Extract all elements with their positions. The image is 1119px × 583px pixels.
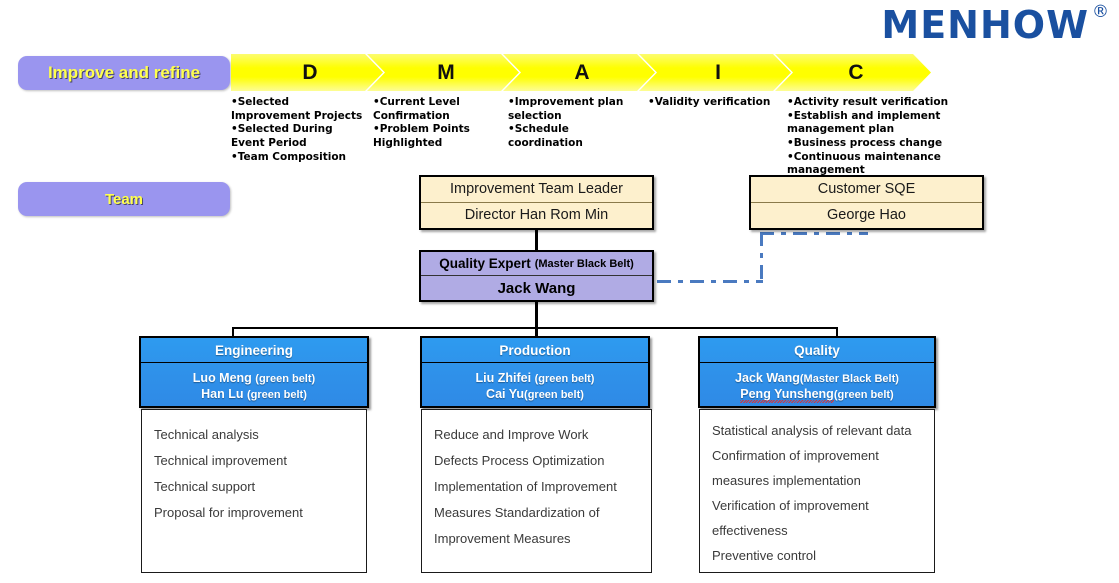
dmaic-bullet: Problem Points Highlighted: [373, 123, 495, 150]
dmaic-bullets-c: Activity result verification Establish a…: [787, 96, 1017, 178]
dmaic-bullet: Schedule coordination: [508, 123, 628, 150]
quality-expert-name: Jack Wang: [421, 276, 652, 300]
customer-sqe-name: George Hao: [751, 203, 982, 229]
department-title-production: Production: [422, 338, 648, 363]
dmaic-bullet: Validity verification: [648, 96, 778, 110]
dmaic-phase-a-letter: A: [574, 61, 589, 85]
member-row: Liu Zhifei (green belt): [476, 371, 595, 385]
dmaic-process-band: D M A I C: [231, 54, 931, 91]
dmaic-phase-c: C: [775, 54, 931, 91]
task-item: Measures Standardization of: [434, 500, 639, 526]
department-title-quality: Quality: [700, 338, 934, 363]
dmaic-bullet: Establish and implement management plan: [787, 110, 1017, 137]
member-belt: (Master Black Belt): [800, 373, 899, 385]
task-item: Improvement Measures: [434, 526, 639, 552]
member-row: Peng Yunsheng(green belt): [740, 387, 893, 401]
logo-wordmark: MENHOW: [881, 6, 1089, 44]
member-row: Jack Wang(Master Black Belt): [735, 371, 899, 385]
dmaic-bullets-i: Validity verification: [648, 96, 778, 110]
department-members-engineering: Luo Meng (green belt) Han Lu (green belt…: [141, 363, 367, 408]
connector-sqe-horizontal-bottom: [657, 280, 763, 283]
dmaic-phase-i: I: [639, 54, 791, 91]
task-item: Proposal for improvement: [154, 500, 354, 526]
team-leader-name: Director Han Rom Min: [421, 203, 652, 229]
dmaic-bullets-a: Improvement plan selection Schedule coor…: [508, 96, 628, 151]
task-item: Implementation of Improvement: [434, 474, 639, 500]
member-belt: (green belt): [255, 373, 315, 385]
dmaic-phase-d-letter: D: [302, 61, 317, 85]
task-item: measures implementation: [712, 468, 922, 493]
connector-expert-down: [535, 300, 538, 328]
dmaic-bullet: Team Composition: [231, 151, 365, 165]
dmaic-bullet: Selected Improvement Projects: [231, 96, 365, 123]
department-title-engineering: Engineering: [141, 338, 367, 363]
task-item: Technical support: [154, 474, 354, 500]
dmaic-phase-i-letter: I: [715, 61, 721, 85]
dmaic-bullets-m: Current Level Confirmation Problem Point…: [373, 96, 495, 151]
dmaic-phase-c-letter: C: [848, 61, 863, 85]
member-name: Luo Meng: [193, 371, 256, 385]
connector-sqe-horizontal-top: [760, 232, 868, 235]
department-members-production: Liu Zhifei (green belt) Cai Yu(green bel…: [422, 363, 648, 408]
member-row: Luo Meng (green belt): [193, 371, 315, 385]
member-name: Cai Yu: [486, 387, 524, 401]
dmaic-bullet: Improvement plan selection: [508, 96, 628, 123]
dmaic-phase-m-letter: M: [437, 61, 455, 85]
dmaic-bullet: Activity result verification: [787, 96, 1017, 110]
quality-expert-role: Quality Expert: [439, 256, 531, 271]
department-members-quality: Jack Wang(Master Black Belt) Peng Yunshe…: [700, 363, 934, 408]
improvement-team-leader-box: Improvement Team Leader Director Han Rom…: [419, 175, 654, 230]
department-header-engineering: Engineering Luo Meng (green belt) Han Lu…: [139, 336, 369, 408]
task-item: Defects Process Optimization: [434, 448, 639, 474]
dmaic-phase-d: D: [231, 54, 383, 91]
dmaic-bullet: Current Level Confirmation: [373, 96, 495, 123]
menhow-logo: MENHOW ®: [881, 6, 1109, 44]
member-belt: (green belt): [535, 373, 595, 385]
stage-label-improve-and-refine: Improve and refine: [18, 56, 230, 90]
stage-label-team-text: Team: [105, 191, 143, 208]
member-belt: (green belt): [524, 389, 584, 401]
quality-expert-box: Quality Expert (Master Black Belt) Jack …: [419, 250, 654, 302]
customer-sqe-box: Customer SQE George Hao: [749, 175, 984, 230]
task-item: Technical analysis: [154, 422, 354, 448]
member-row: Han Lu (green belt): [201, 387, 307, 401]
dmaic-phase-m: M: [367, 54, 519, 91]
stage-label-improve-text: Improve and refine: [48, 63, 200, 83]
connector-leader-to-expert: [535, 230, 538, 252]
department-header-production: Production Liu Zhifei (green belt) Cai Y…: [420, 336, 650, 408]
quality-expert-role-suffix: (Master Black Belt): [535, 258, 634, 270]
stage-label-team: Team: [18, 182, 230, 216]
quality-expert-role-row: Quality Expert (Master Black Belt): [421, 252, 652, 276]
dmaic-phase-a: A: [503, 54, 655, 91]
member-name: Han Lu: [201, 387, 247, 401]
member-name: Jack Wang: [735, 371, 800, 385]
department-tasks-quality: Statistical analysis of relevant data Co…: [699, 409, 935, 573]
dmaic-bullet: Business process change: [787, 137, 1017, 151]
task-item: effectiveness: [712, 518, 922, 543]
task-item: Verification of improvement: [712, 493, 922, 518]
task-item: Confirmation of improvement: [712, 443, 922, 468]
department-tasks-production: Reduce and Improve Work Defects Process …: [421, 409, 652, 573]
member-belt: (green belt): [834, 389, 894, 401]
member-belt: (green belt): [247, 389, 307, 401]
task-item: Preventive control: [712, 543, 922, 568]
dmaic-bullet: Selected During Event Period: [231, 123, 365, 150]
task-item: Statistical analysis of relevant data: [712, 418, 922, 443]
customer-sqe-role: Customer SQE: [751, 177, 982, 203]
member-name: Peng Yunsheng: [740, 387, 834, 401]
member-name: Liu Zhifei: [476, 371, 535, 385]
department-tasks-engineering: Technical analysis Technical improvement…: [141, 409, 367, 573]
connector-sqe-vertical: [760, 232, 763, 282]
task-item: Reduce and Improve Work: [434, 422, 639, 448]
dmaic-bullets-d: Selected Improvement Projects Selected D…: [231, 96, 365, 164]
team-leader-role: Improvement Team Leader: [421, 177, 652, 203]
registered-trademark-icon: ®: [1092, 4, 1109, 21]
department-header-quality: Quality Jack Wang(Master Black Belt) Pen…: [698, 336, 936, 408]
member-row: Cai Yu(green belt): [486, 387, 584, 401]
dmaic-bullet: Continuous maintenance management: [787, 151, 1017, 178]
task-item: Technical improvement: [154, 448, 354, 474]
